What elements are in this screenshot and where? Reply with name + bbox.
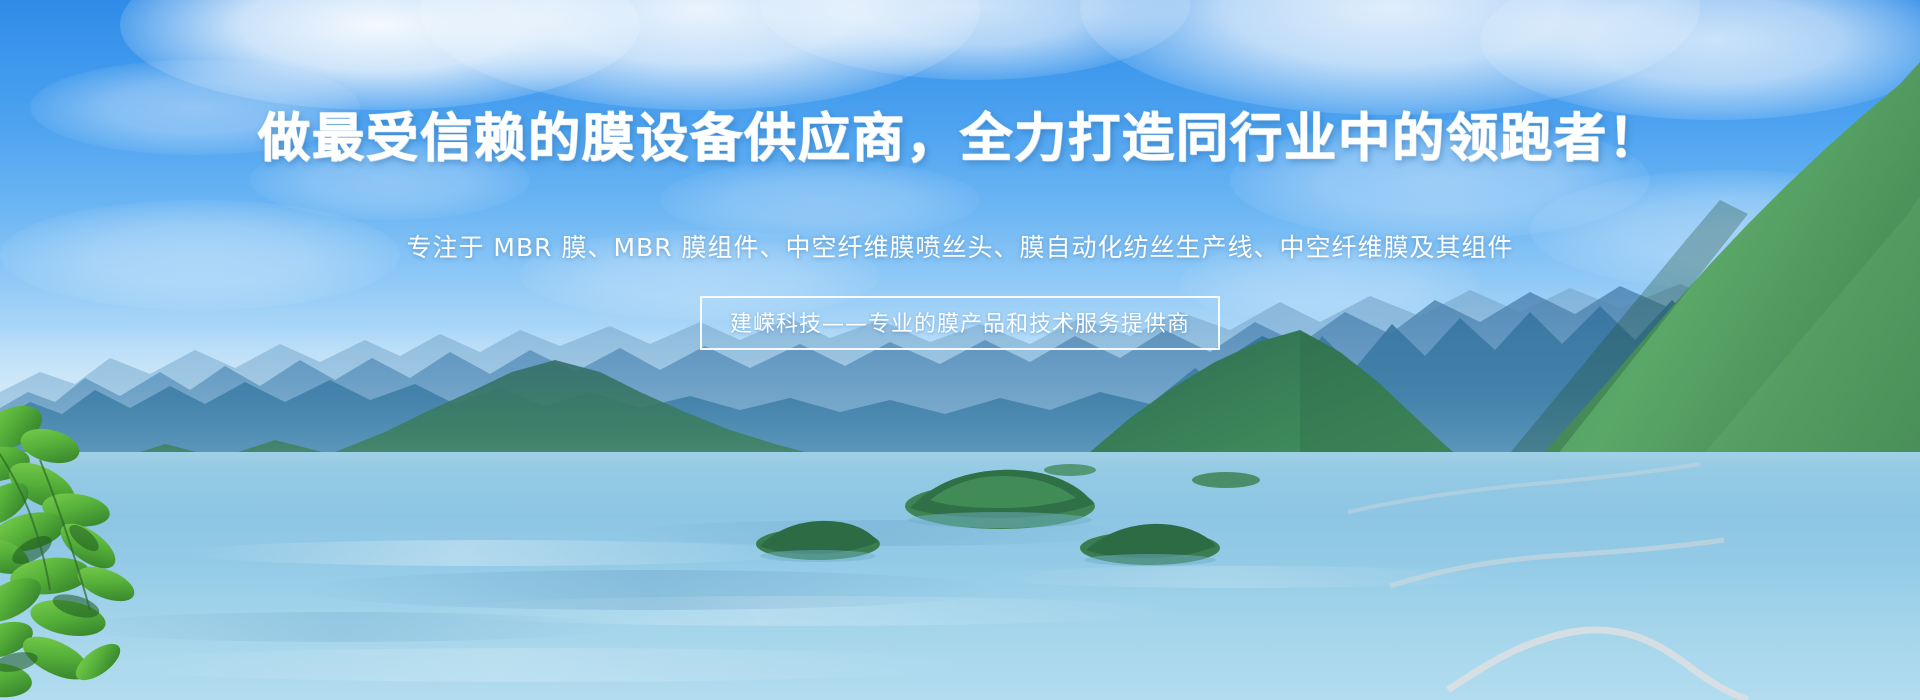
banner-stage: 做最受信赖的膜设备供应商，全力打造同行业中的领跑者！ 专注于 MBR 膜、MBR…	[0, 0, 1920, 700]
foreground-foliage	[0, 400, 260, 700]
winding-road	[0, 0, 1920, 700]
tagline-box[interactable]: 建嵘科技——专业的膜产品和技术服务提供商	[700, 296, 1220, 350]
